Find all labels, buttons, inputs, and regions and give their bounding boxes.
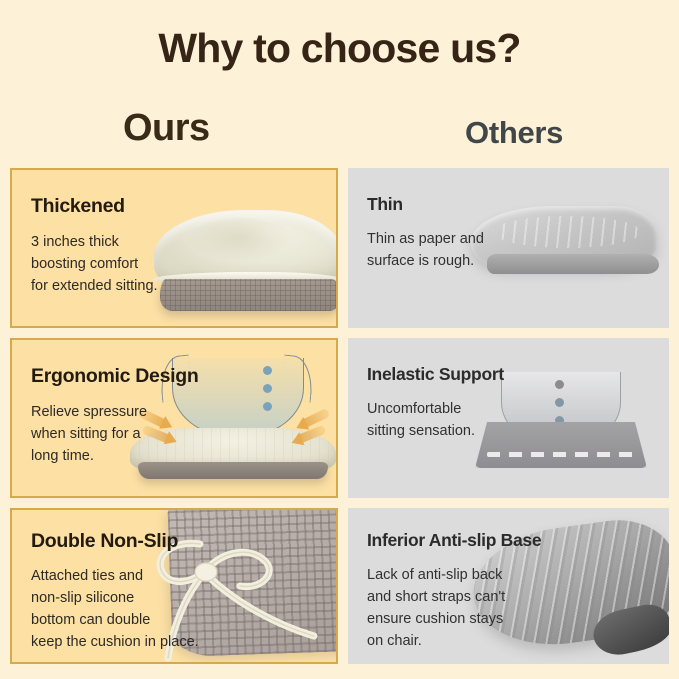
ours-card-double-non-slip: Double Non-Slip Attached ties and non-sl… xyxy=(10,508,338,664)
card-title: Double Non-Slip xyxy=(31,532,178,552)
inelastic-support-diagram xyxy=(475,368,647,480)
card-body: Uncomfortable sitting sensation. xyxy=(367,398,475,442)
thin-pad-photo xyxy=(471,198,663,294)
thick-cushion-photo xyxy=(146,206,338,318)
comparison-row-3: Double Non-Slip Attached ties and non-sl… xyxy=(10,508,669,664)
support-arrow-icon xyxy=(300,408,331,429)
column-heading-ours: Ours xyxy=(123,109,210,147)
others-card-inferior-anti-slip-base: Inferior Anti-slip Base Lack of anti-sli… xyxy=(348,508,669,664)
pressure-dot-icon xyxy=(555,380,564,389)
pressure-dot-icon xyxy=(263,366,272,375)
card-title: Thickened xyxy=(31,197,125,217)
card-body: Thin as paper and surface is rough. xyxy=(367,228,484,272)
pressure-dot-icon xyxy=(263,402,272,411)
dashed-line-icon xyxy=(487,452,635,457)
others-card-thin: Thin Thin as paper and surface is rough. xyxy=(348,168,669,328)
page-title: Why to choose us? xyxy=(0,24,679,73)
card-title: Inferior Anti-slip Base xyxy=(367,532,541,550)
card-body: Relieve spressure when sitting for a lon… xyxy=(31,401,147,467)
comparison-grid: Thickened 3 inches thick boosting comfor… xyxy=(10,168,669,664)
pressure-dot-icon xyxy=(555,398,564,407)
pressure-dot-icon xyxy=(263,384,272,393)
others-card-inelastic-support: Inelastic Support Uncomfortable sitting … xyxy=(348,338,669,498)
ours-card-ergonomic-design: Ergonomic Design Relieve spressure when … xyxy=(10,338,338,498)
card-body: 3 inches thick boosting comfort for exte… xyxy=(31,231,158,297)
card-title: Inelastic Support xyxy=(367,366,504,384)
comparison-row-2: Ergonomic Design Relieve spressure when … xyxy=(10,338,669,498)
support-arrow-icon xyxy=(295,425,326,445)
comparison-row-1: Thickened 3 inches thick boosting comfor… xyxy=(10,168,669,328)
card-body: Lack of anti-slip back and short straps … xyxy=(367,564,505,652)
comparison-infographic: Why to choose us? Ours Others Thickened … xyxy=(0,0,679,679)
column-heading-others: Others xyxy=(465,117,563,148)
card-body: Attached ties and non-slip silicone bott… xyxy=(31,565,199,653)
card-title: Thin xyxy=(367,196,403,214)
card-title: Ergonomic Design xyxy=(31,367,198,387)
ours-card-thickened: Thickened 3 inches thick boosting comfor… xyxy=(10,168,338,328)
pressure-dot-icon xyxy=(555,416,564,425)
